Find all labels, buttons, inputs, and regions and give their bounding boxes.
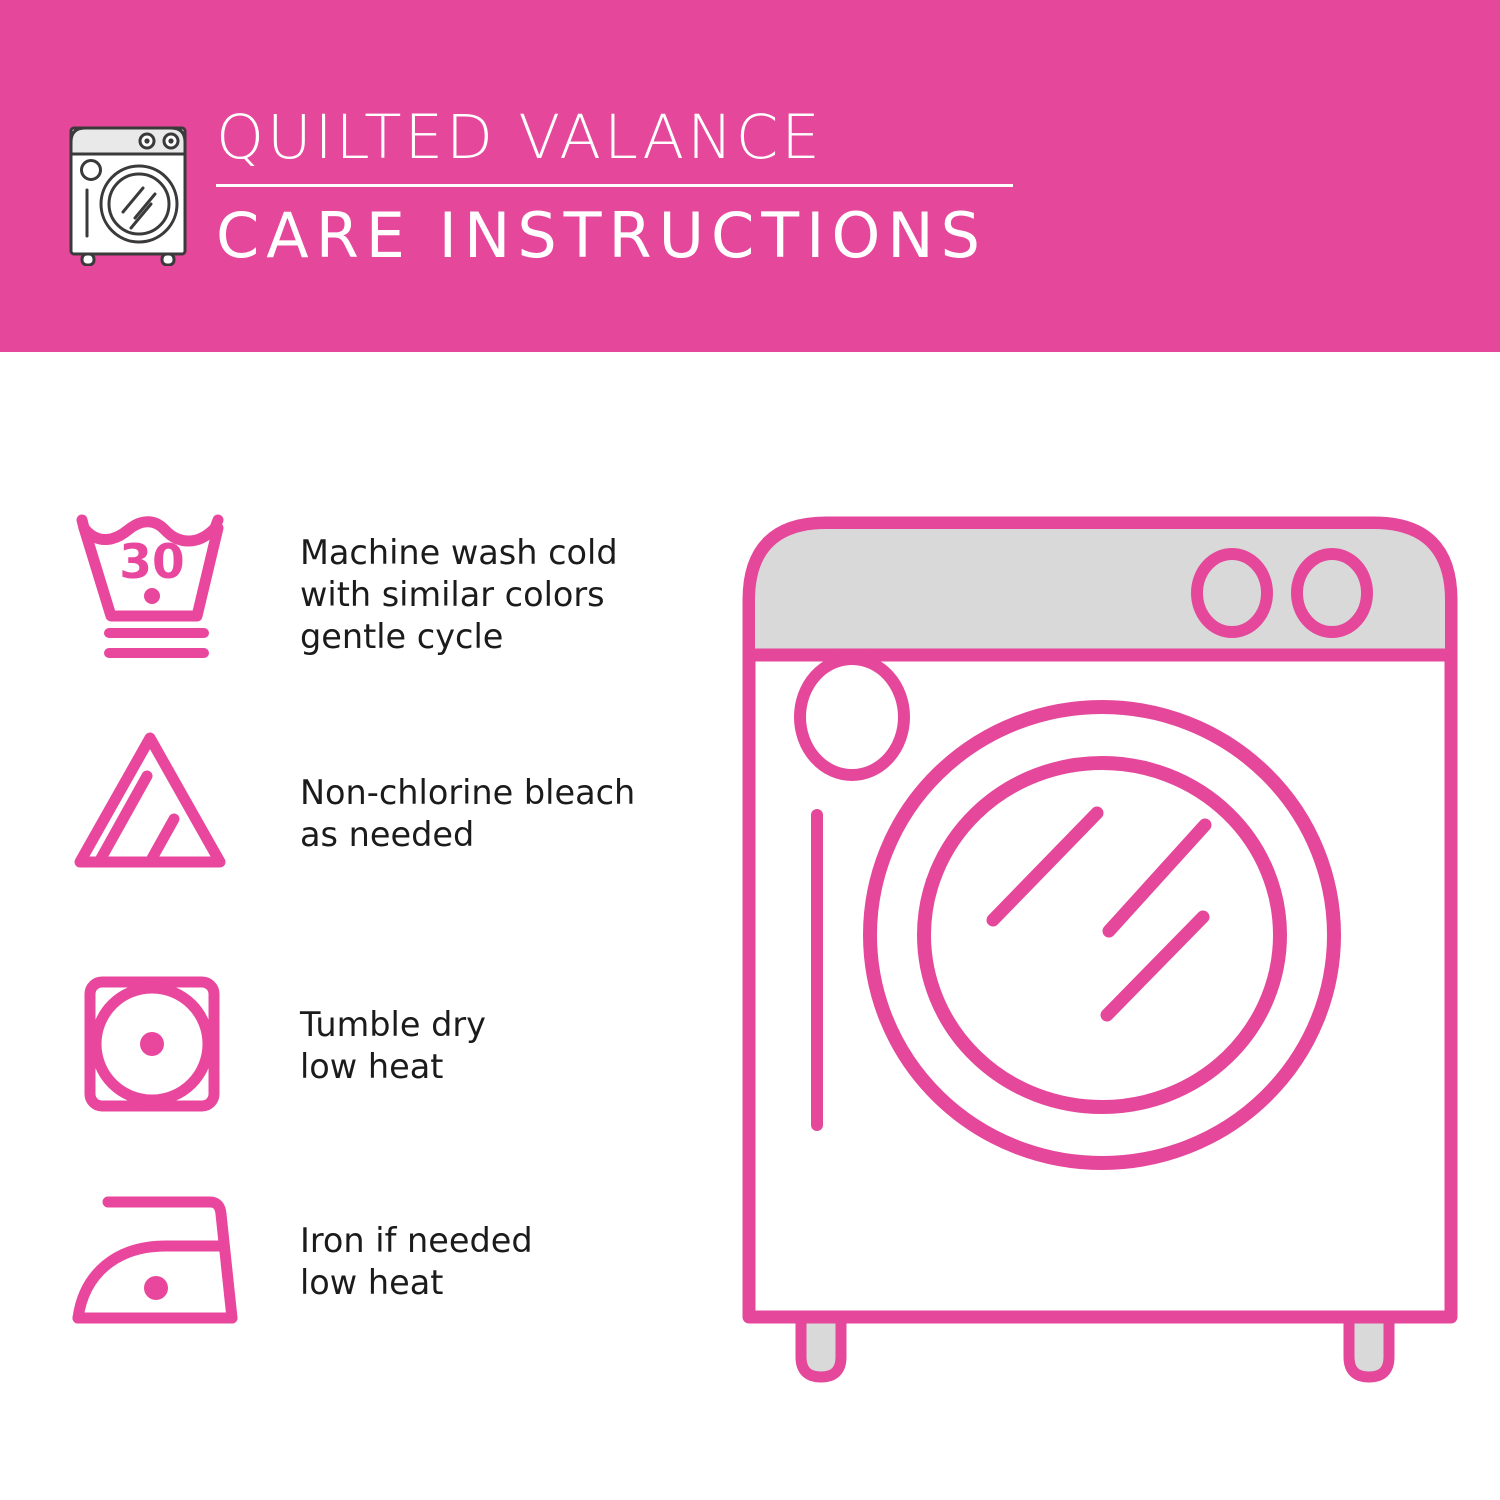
care-line: Tumble dry <box>300 1005 486 1044</box>
care-instruction-label: Non-chlorine bleachas needed <box>300 772 660 856</box>
care-instruction-label: Machine wash coldwith similar colorsgent… <box>300 532 660 658</box>
non-chlorine-bleach-triangle-icon <box>70 716 250 886</box>
washer-leg-left <box>801 1315 841 1377</box>
wash-tub-30-degrees-icon: 30 <box>70 500 250 670</box>
page-subtitle: CARE INSTRUCTIONS <box>216 201 1016 271</box>
header-text-block: QUILTED VALANCE CARE INSTRUCTIONS <box>216 104 1016 271</box>
care-line: low heat <box>300 1263 443 1302</box>
washer-leg-right <box>1349 1315 1389 1377</box>
care-instruction-item-tumble-dry: Tumble drylow heat <box>0 962 660 1162</box>
front-load-washing-machine-illustration <box>735 495 1465 1425</box>
tumble-dry-low-heat-icon <box>70 962 250 1132</box>
header-banner: QUILTED VALANCE CARE INSTRUCTIONS <box>0 0 1500 352</box>
care-line: gentle cycle <box>300 617 503 656</box>
care-instruction-label: Iron if neededlow heat <box>300 1220 660 1304</box>
header-divider <box>216 184 1013 187</box>
care-instruction-label: Tumble drylow heat <box>300 1004 660 1088</box>
care-line: low heat <box>300 1047 443 1086</box>
care-instruction-item-bleach: Non-chlorine bleachas needed <box>0 716 660 916</box>
svg-text:30: 30 <box>119 535 184 590</box>
care-line: as needed <box>300 815 474 854</box>
iron-low-heat-icon <box>70 1178 250 1348</box>
care-line: Iron if needed <box>300 1221 533 1260</box>
care-line: Machine wash cold <box>300 533 618 572</box>
care-line: with similar colors <box>300 575 605 614</box>
care-instructions-page: QUILTED VALANCE CARE INSTRUCTIONS 30 <box>0 0 1500 1500</box>
washing-machine-icon <box>63 108 199 266</box>
care-instruction-item-iron: Iron if neededlow heat <box>0 1178 660 1378</box>
care-instruction-item-wash: 30 Machine wash coldwith similar colorsg… <box>0 500 660 700</box>
care-line: Non-chlorine bleach <box>300 773 635 812</box>
page-title: QUILTED VALANCE <box>216 104 1016 172</box>
